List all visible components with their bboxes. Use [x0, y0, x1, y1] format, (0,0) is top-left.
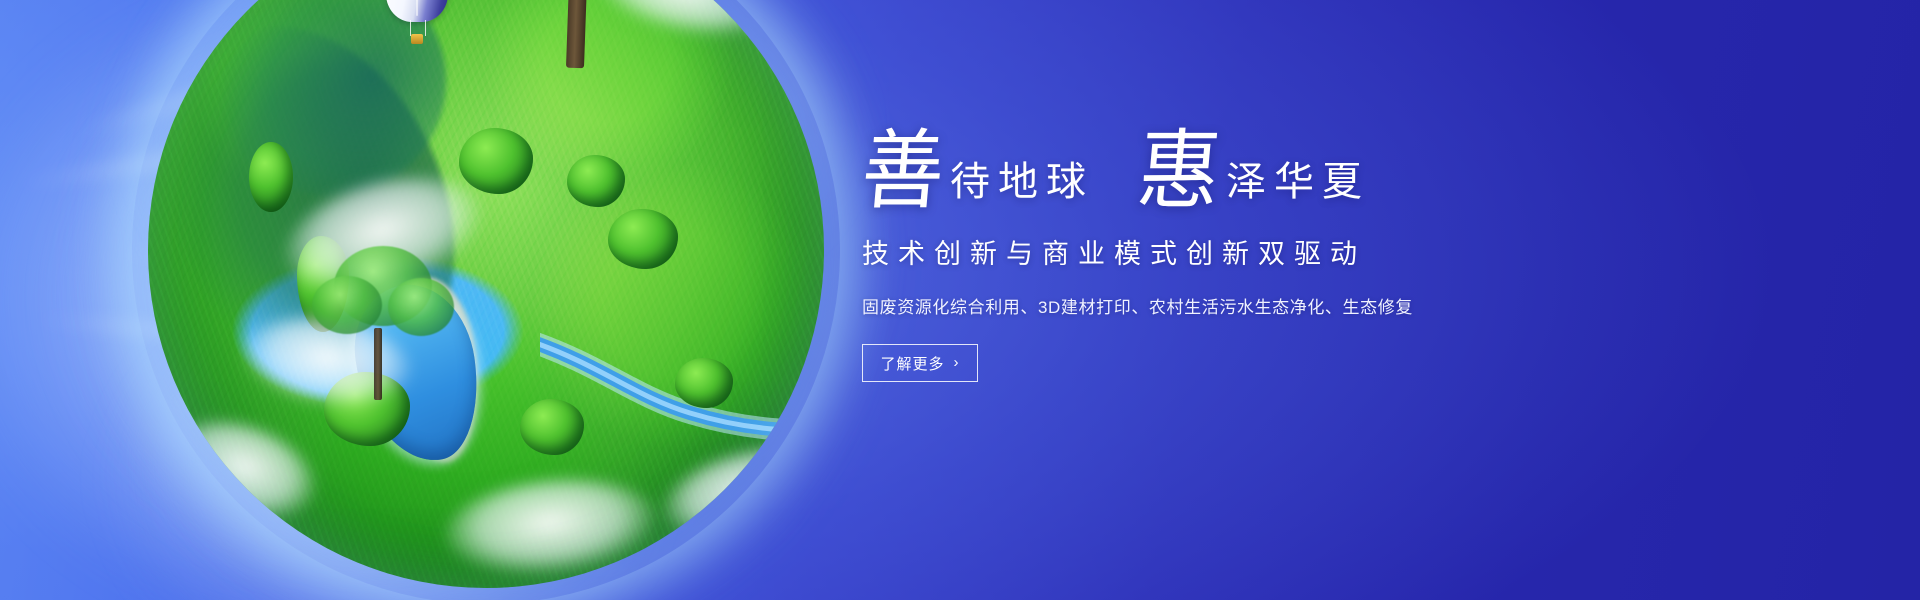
tree-canopy [388, 278, 454, 336]
headline-phrase-1: 善 待地球 [862, 133, 1094, 212]
tree-cluster [608, 209, 678, 269]
green-planet-illustration [148, 0, 824, 588]
tree-trunk [566, 0, 588, 68]
learn-more-label: 了解更多 [880, 353, 944, 374]
balloon-basket [411, 34, 423, 44]
tree-cluster [567, 155, 625, 207]
hero-banner: 善 待地球 惠 泽华夏 技术创新与商业模式创新双驱动 固废资源化综合利用、3D建… [0, 0, 1920, 600]
tree-cluster [675, 358, 733, 408]
planet-sphere [148, 0, 824, 588]
description: 固废资源化综合利用、3D建材打印、农村生活污水生态净化、生态修复 [862, 293, 1842, 318]
headline-lead-char-2: 惠 [1134, 131, 1229, 214]
tree-cluster [249, 142, 293, 212]
headline-rest-2: 泽华夏 [1226, 162, 1370, 202]
tree-canopy [312, 276, 382, 334]
headline: 善 待地球 惠 泽华夏 [862, 120, 1842, 212]
chevron-right-icon: › [954, 355, 960, 370]
headline-phrase-2: 惠 泽华夏 [1138, 133, 1370, 212]
subtitle: 技术创新与商业模式创新双驱动 [862, 232, 1842, 271]
headline-rest-1: 待地球 [950, 162, 1094, 202]
small-tree [308, 232, 458, 402]
bird-flock-icon [744, 0, 874, 2]
tree-trunk [374, 328, 382, 400]
headline-lead-char-1: 善 [858, 131, 953, 214]
balloon-seam [416, 0, 418, 16]
tree-cluster [520, 399, 584, 455]
learn-more-button[interactable]: 了解更多 › [862, 344, 978, 382]
hero-copy: 善 待地球 惠 泽华夏 技术创新与商业模式创新双驱动 固废资源化综合利用、3D建… [862, 120, 1842, 382]
tree-cluster [459, 128, 533, 194]
hot-air-balloon [386, 0, 448, 52]
large-tree [448, 0, 708, 80]
